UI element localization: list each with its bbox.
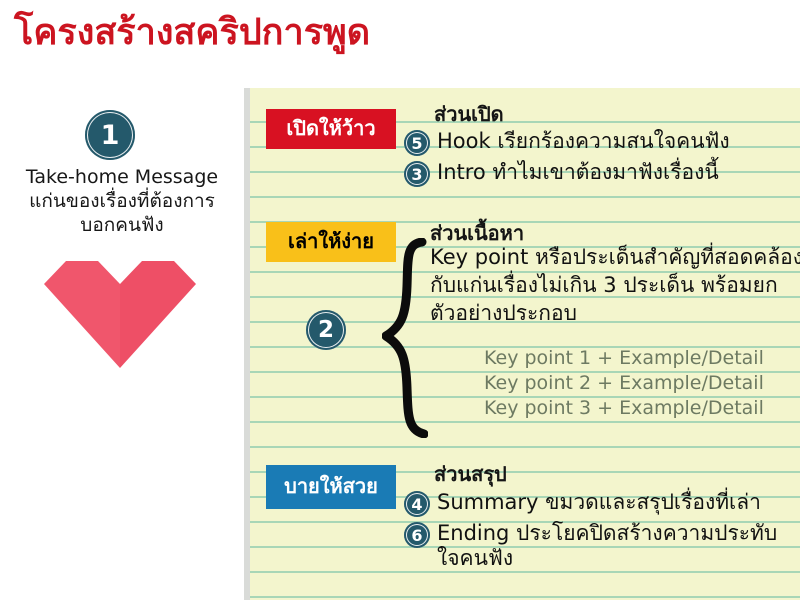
take-home-message-caption: Take-home Message แก่นของเรื่องที่ต้องกา… — [0, 166, 244, 237]
key-point-1: Key point 1 + Example/Detail — [484, 346, 800, 371]
section-tag-body: เล่าให้ง่าย — [266, 222, 396, 262]
caption-line-3: บอกคนฟัง — [0, 214, 244, 238]
key-point-3: Key point 3 + Example/Detail — [484, 396, 800, 421]
list-item-label: Intro ทำไมเขาต้องมาฟังเรื่องนี้ — [437, 160, 719, 185]
caption-line-2: แก่นของเรื่องที่ต้องการ — [0, 190, 244, 214]
body-paragraph-line-2: กับแก่นเรื่องไม่เกิน 3 ประเด็น พร้อมยก — [430, 271, 800, 299]
step-badge-2: 2 — [306, 310, 346, 350]
section-heading-closing: ส่วนสรุป — [434, 458, 507, 490]
section-tag-closing: บายให้สวย — [266, 465, 396, 509]
key-point-2: Key point 2 + Example/Detail — [484, 371, 800, 396]
step-badge-5: 5 — [404, 130, 430, 156]
body-paragraph-line-1: Key point หรือประเด็นสำคัญที่สอดคล้อง — [430, 243, 800, 271]
curly-brace-icon — [382, 238, 428, 438]
notepad-panel: เปิดให้ว้าว ส่วนเปิด 5 Hook เรียกร้องควา… — [244, 88, 800, 600]
caption-line-1: Take-home Message — [0, 166, 244, 190]
body-paragraph-line-3: ตัวอย่างประกอบ — [430, 299, 800, 327]
key-point-list: Key point 1 + Example/Detail Key point 2… — [484, 346, 800, 421]
step-badge-6: 6 — [404, 522, 430, 548]
step-badge-1: 1 — [85, 110, 135, 160]
list-item: 3 Intro ทำไมเขาต้องมาฟังเรื่องนี้ — [404, 160, 719, 187]
list-item-label: Ending ประโยคปิดสร้างความประทับใจคนฟัง — [437, 521, 797, 571]
list-item-label: Summary ขมวดและสรุปเรื่องที่เล่า — [437, 490, 761, 515]
heart-icon — [44, 246, 196, 368]
take-home-message-panel: 1 Take-home Message แก่นของเรื่องที่ต้อง… — [0, 96, 244, 516]
section-tag-opening: เปิดให้ว้าว — [266, 109, 396, 149]
step-badge-3: 3 — [404, 161, 430, 187]
list-item: 5 Hook เรียกร้องความสนใจคนฟัง — [404, 129, 730, 156]
section-heading-opening: ส่วนเปิด — [434, 98, 504, 130]
list-item-label: Hook เรียกร้องความสนใจคนฟัง — [437, 129, 730, 154]
body-paragraph: Key point หรือประเด็นสำคัญที่สอดคล้อง กั… — [430, 243, 800, 327]
list-item: 6 Ending ประโยคปิดสร้างความประทับใจคนฟัง — [404, 521, 797, 571]
list-item: 4 Summary ขมวดและสรุปเรื่องที่เล่า — [404, 490, 761, 517]
page-title: โครงสร้างสคริปการพูด — [14, 12, 370, 53]
step-badge-4: 4 — [404, 491, 430, 517]
